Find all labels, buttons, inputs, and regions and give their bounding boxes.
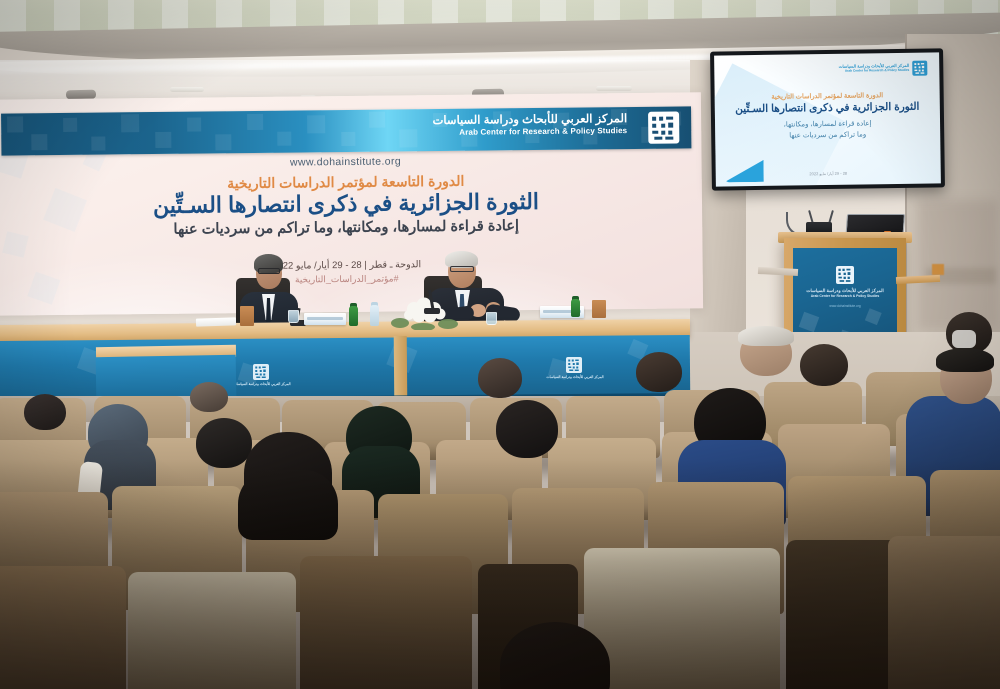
audience-person-head [24, 394, 66, 430]
drinking-glass [288, 310, 299, 323]
table-mic-base [424, 308, 440, 314]
papers [196, 317, 236, 326]
slide-org-english: Arab Center for Research & Policy Studie… [839, 69, 910, 74]
name-plate [304, 313, 346, 325]
slide-logo-block: المركز العربي للأبحاث ودراسة السياسات Ar… [839, 61, 928, 77]
event-backdrop: المركز العربي للأبحاث ودراسة السياسات Ar… [0, 92, 703, 315]
slide-org-names: المركز العربي للأبحاث ودراسة السياسات Ar… [839, 64, 910, 73]
acrps-logo-icon [836, 266, 854, 284]
slide-subtitle: إعادة قراءة لمسارها، ومكانتها، وما تراكم… [715, 118, 940, 142]
audience-person-hair-long [238, 470, 338, 540]
drinking-glass [486, 312, 497, 325]
podium-org-names: المركز العربي للأبحاث ودراسة السياسات Ar… [793, 288, 897, 298]
foreground-seat [584, 548, 780, 689]
foreground-seat [888, 536, 1000, 689]
org-name-block: المركز العربي للأبحاث ودراسة السياسات Ar… [433, 113, 628, 137]
table-panel-seam [394, 336, 408, 400]
conference-photo-scene: المركز العربي للأبحاث ودراسة السياسات Ar… [0, 0, 1000, 689]
slide-title: الثورة الجزائرية في ذكرى انتصارها السـتِ… [715, 100, 940, 115]
acrps-logo-icon [648, 112, 679, 144]
audience-person-head [478, 358, 522, 398]
foreground-seat [0, 566, 126, 689]
foreground-seat [300, 556, 472, 689]
wood-block [592, 300, 606, 318]
green-bottle [349, 306, 358, 326]
acrps-logo-icon [566, 357, 582, 373]
podium-website: www.dohainstitute.org [793, 304, 897, 308]
audience-person-cap [936, 348, 994, 372]
audience-person-head [800, 344, 848, 386]
water-bottle [370, 305, 379, 326]
audience-person-head [636, 352, 682, 392]
wood-block [240, 306, 254, 326]
speaker-left-glasses-icon [258, 268, 280, 274]
audience-person-head [190, 382, 228, 412]
wall-shadow [918, 200, 998, 330]
foreground-seat [128, 572, 296, 689]
wall-display: المركز العربي للأبحاث ودراسة السياسات Ar… [710, 48, 945, 190]
podium-org-arabic: المركز العربي للأبحاث ودراسة السياسات [793, 288, 897, 294]
audience-person-hair [738, 326, 794, 346]
audience-person-head [196, 418, 252, 468]
podium-org-english: Arab Center for Research & Policy Studie… [793, 294, 897, 298]
green-bottle [571, 299, 580, 317]
slide-subtitle-line2: وما تراكم من سرديات عنها [715, 129, 940, 143]
desk-org-name: المركز العربي للأبحاث ودراسة السياسات [535, 375, 615, 379]
acrps-logo-icon [912, 61, 927, 76]
audience-person-head [496, 400, 558, 458]
acrps-logo-icon [253, 364, 269, 380]
audience-person-mask-icon [952, 330, 976, 348]
display-screen: المركز العربي للأبحاث ودراسة السياسات Ar… [714, 52, 941, 186]
speaker-right-glasses-icon [450, 266, 474, 272]
wall-plate-icon [932, 264, 944, 275]
backdrop-header-bar: المركز العربي للأبحاث ودراسة السياسات Ar… [1, 106, 691, 155]
